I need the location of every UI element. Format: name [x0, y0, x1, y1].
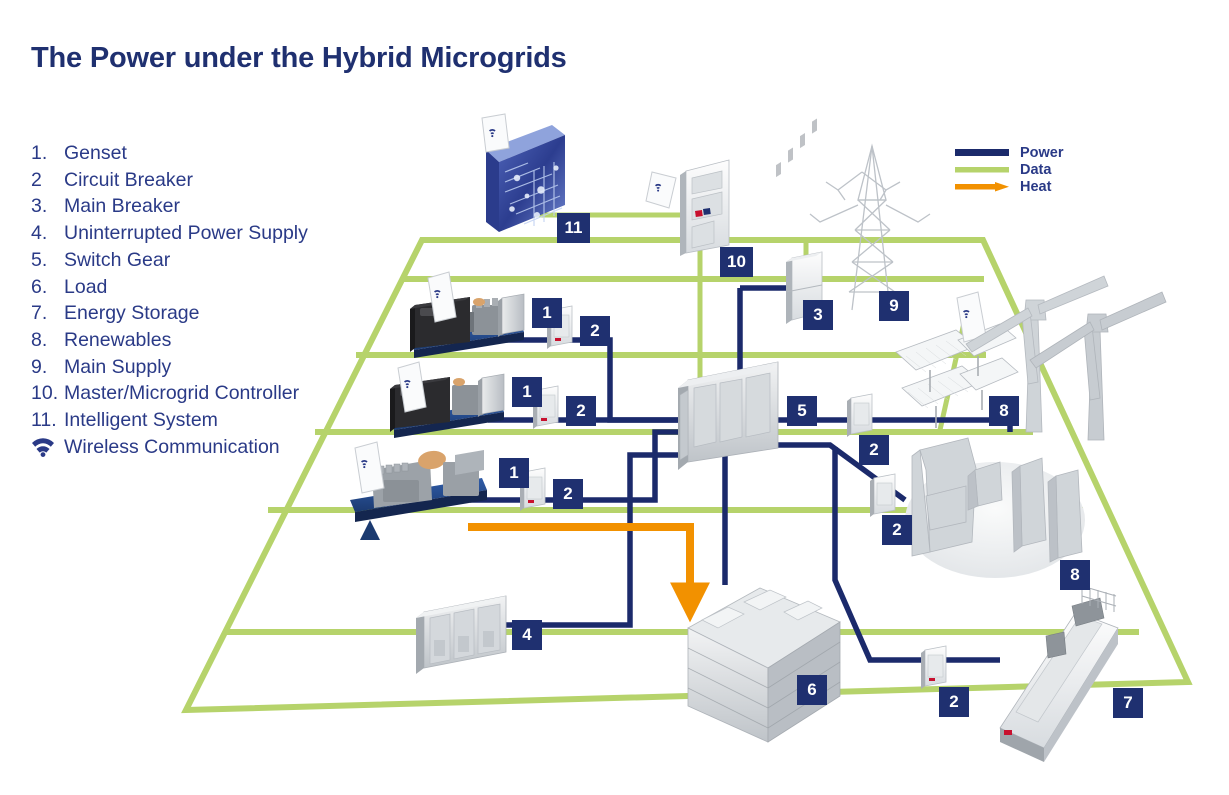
number-badge-2: 2 — [859, 435, 889, 465]
energy-storage-container — [1000, 586, 1118, 762]
legend-number: 4. — [31, 220, 64, 247]
legend-item-2: 2 Circuit Breaker — [31, 167, 361, 194]
number-badge-8: 8 — [1060, 560, 1090, 590]
legend-item-5: 5. Switch Gear — [31, 247, 361, 274]
data-line-swatch — [955, 161, 1013, 178]
legend-number: 8. — [31, 327, 64, 354]
legend-item-1: 1. Genset — [31, 140, 361, 167]
number-badge-3: 3 — [803, 300, 833, 330]
number-badge-1: 1 — [512, 377, 542, 407]
legend-item-4: 4. Uninterrupted Power Supply — [31, 220, 361, 247]
legend-label: Renewables — [64, 327, 361, 354]
legend-item-9: 9. Main Supply — [31, 354, 361, 381]
number-badge-6: 6 — [797, 675, 827, 705]
number-badge-7: 7 — [1113, 688, 1143, 718]
legend-item-7: 7. Energy Storage — [31, 300, 361, 327]
legend-label: Main Supply — [64, 354, 361, 381]
renewable-plant — [905, 438, 1085, 578]
switch-gear-cabinets — [678, 362, 778, 470]
legend-label: Switch Gear — [64, 247, 361, 274]
heat-line-swatch — [955, 178, 1013, 195]
legend-item-8: 8. Renewables — [31, 327, 361, 354]
legend-number: 1. — [31, 140, 64, 167]
data-label: Data — [1020, 162, 1051, 178]
legend-item-6: 6. Load — [31, 274, 361, 301]
legend-number: 2 — [31, 167, 64, 194]
legend-number: 3. — [31, 193, 64, 220]
legend-item-10: 10. Master/Microgrid Controller — [31, 380, 361, 407]
legend-label: Energy Storage — [64, 300, 361, 327]
number-badge-2: 2 — [553, 479, 583, 509]
number-badge-10: 10 — [720, 247, 753, 277]
master-microgrid-controller — [680, 160, 729, 256]
uninterrupted-power-supply — [416, 596, 506, 674]
heat-label: Heat — [1020, 179, 1051, 195]
number-badge-2: 2 — [882, 515, 912, 545]
heat-line — [468, 527, 690, 600]
legend-number: 5. — [31, 247, 64, 274]
wireless-tag-10 — [646, 172, 676, 208]
legend-label: Main Breaker — [64, 193, 361, 220]
wireless-tag-11 — [482, 114, 509, 152]
line-type-legend: Power Data Heat — [955, 144, 1064, 195]
wifi-icon — [31, 438, 64, 457]
legend-item-11: 11. Intelligent System — [31, 407, 361, 434]
number-badge-1: 1 — [499, 458, 529, 488]
number-badge-2: 2 — [566, 396, 596, 426]
number-badge-4: 4 — [512, 620, 542, 650]
legend-label: Genset — [64, 140, 361, 167]
legend-list: 1. Genset 2 Circuit Breaker 3. Main Brea… — [31, 140, 361, 460]
number-badge-1: 1 — [532, 298, 562, 328]
legend-power: Power — [955, 144, 1064, 161]
circuit-breaker-storage — [921, 646, 946, 689]
power-label: Power — [1020, 145, 1064, 161]
legend-heat: Heat — [955, 178, 1064, 195]
transmission-tower — [810, 146, 930, 310]
number-badge-11: 11 — [557, 213, 590, 243]
circuit-breaker-renewables — [847, 394, 872, 437]
legend-label: Wireless Communication — [64, 434, 361, 461]
number-badge-5: 5 — [787, 396, 817, 426]
power-line-swatch — [955, 144, 1013, 161]
legend-label: Circuit Breaker — [64, 167, 361, 194]
legend-label: Master/Microgrid Controller — [64, 380, 361, 407]
legend-label: Intelligent System — [64, 407, 361, 434]
legend-number: 11. — [31, 407, 64, 434]
number-badge-2: 2 — [580, 316, 610, 346]
legend-number: 10. — [31, 380, 64, 407]
legend-label: Load — [64, 274, 361, 301]
legend-number: 7. — [31, 300, 64, 327]
number-badge-9: 9 — [879, 291, 909, 321]
number-badge-8: 8 — [989, 396, 1019, 426]
legend-item-wireless: Wireless Communication — [31, 434, 361, 461]
circuit-breaker-plant — [870, 474, 895, 517]
number-badge-2: 2 — [939, 687, 969, 717]
legend-label: Uninterrupted Power Supply — [64, 220, 361, 247]
legend-number: 6. — [31, 274, 64, 301]
legend-data: Data — [955, 161, 1064, 178]
legend-number: 9. — [31, 354, 64, 381]
genset-top — [410, 294, 524, 358]
legend-item-3: 3. Main Breaker — [31, 193, 361, 220]
